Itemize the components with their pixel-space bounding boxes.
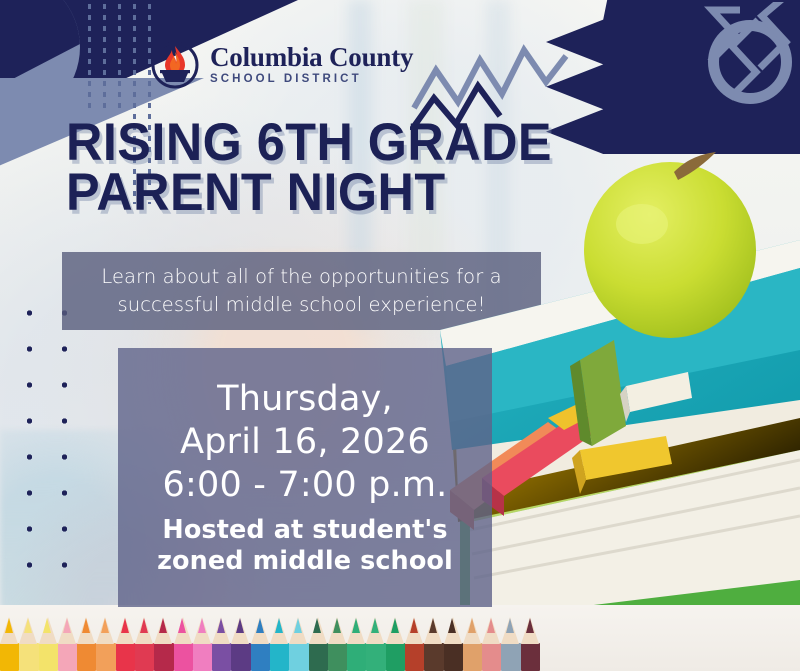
colored-pencil: [96, 609, 115, 671]
colored-pencil: [328, 609, 347, 671]
colored-pencil: [366, 609, 385, 671]
event-location-line-1: Hosted at student's: [157, 515, 453, 546]
colored-pencil: [193, 609, 212, 671]
logo-name: Columbia County: [210, 44, 413, 71]
colored-pencil: [463, 609, 482, 671]
logo-subtitle: SCHOOL DISTRICT: [210, 74, 413, 86]
colored-pencil: [0, 609, 19, 671]
colored-pencil: [212, 609, 231, 671]
colored-pencil: [135, 609, 154, 671]
event-time: 6:00 - 7:00 p.m.: [163, 464, 448, 507]
colored-pencil: [77, 609, 96, 671]
colored-pencil: [154, 609, 173, 671]
slate-ring-icon: [708, 20, 792, 104]
colored-pencil: [116, 609, 135, 671]
navy-dot-grid: [12, 295, 96, 585]
poster-flyer: Columbia County SCHOOL DISTRICT RISING 6…: [0, 0, 800, 671]
colored-pencil: [424, 609, 443, 671]
colored-pencil: [58, 609, 77, 671]
colored-pencil: [444, 609, 463, 671]
colored-pencil: [19, 609, 38, 671]
logo: Columbia County SCHOOL DISTRICT: [150, 40, 413, 90]
torch-flame-icon: [150, 40, 200, 90]
colored-pencil: [231, 609, 250, 671]
event-day: Thursday,: [163, 378, 448, 421]
colored-pencil: [347, 609, 366, 671]
event-date: April 16, 2026: [163, 421, 448, 464]
colored-pencil: [309, 609, 328, 671]
event-location: Hosted at student'szoned middle school: [157, 515, 453, 576]
colored-pencil: [251, 609, 270, 671]
colored-pencil: [482, 609, 501, 671]
colored-pencil: [39, 609, 58, 671]
colored-pencil: [521, 609, 540, 671]
colored-pencil: [174, 609, 193, 671]
colored-pencil: [386, 609, 405, 671]
event-details-panel: Thursday,April 16, 20266:00 - 7:00 p.m.H…: [118, 348, 492, 607]
colored-pencil: [405, 609, 424, 671]
event-location-line-2: zoned middle school: [157, 546, 453, 577]
colored-pencils-photo: [0, 605, 800, 671]
colored-pencil: [501, 609, 520, 671]
colored-pencil: [270, 609, 289, 671]
event-datetime: Thursday,April 16, 20266:00 - 7:00 p.m.: [163, 378, 448, 506]
colored-pencil: [289, 609, 308, 671]
